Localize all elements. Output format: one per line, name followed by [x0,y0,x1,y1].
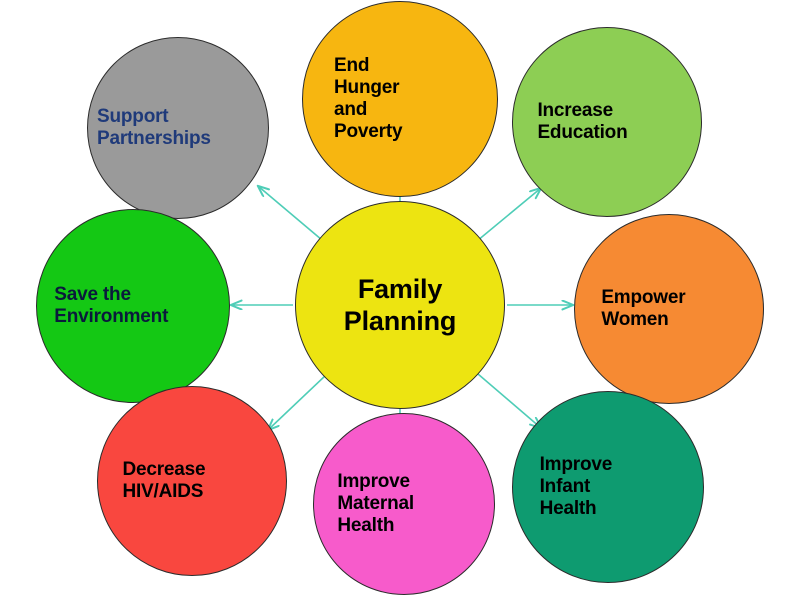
node-decrease-hiv-aids[interactable]: Decrease HIV/AIDS [97,386,287,576]
node-improve-maternal-health[interactable]: Improve Maternal Health [313,413,495,595]
node-label-support-partnerships: Support Partnerships [88,106,268,150]
arrow-to-decrease-hiv-aids [268,375,326,430]
node-empower-women[interactable]: Empower Women [574,214,764,404]
node-family-planning[interactable]: Family Planning [295,201,505,409]
family-planning-diagram: Support PartnershipsEnd Hunger and Pover… [0,0,800,600]
node-support-partnerships[interactable]: Support Partnerships [87,37,269,219]
node-label-improve-maternal-health: Improve Maternal Health [314,471,494,537]
node-label-family-planning: Family Planning [296,273,504,338]
node-label-decrease-hiv-aids: Decrease HIV/AIDS [98,459,286,503]
node-label-increase-education: Increase Education [513,100,701,144]
node-label-empower-women: Empower Women [575,287,763,331]
arrow-to-improve-infant-health [478,374,541,428]
node-label-save-the-environment: Save the Environment [37,284,229,328]
node-increase-education[interactable]: Increase Education [512,27,702,217]
node-improve-infant-health[interactable]: Improve Infant Health [512,391,704,583]
node-end-hunger-and-poverty[interactable]: End Hunger and Poverty [302,1,498,197]
node-save-the-environment[interactable]: Save the Environment [36,209,230,403]
node-label-end-hunger-and-poverty: End Hunger and Poverty [303,55,497,143]
arrow-to-increase-education [477,188,541,241]
arrow-to-support-partnerships [258,186,322,240]
node-label-improve-infant-health: Improve Infant Health [513,454,703,520]
